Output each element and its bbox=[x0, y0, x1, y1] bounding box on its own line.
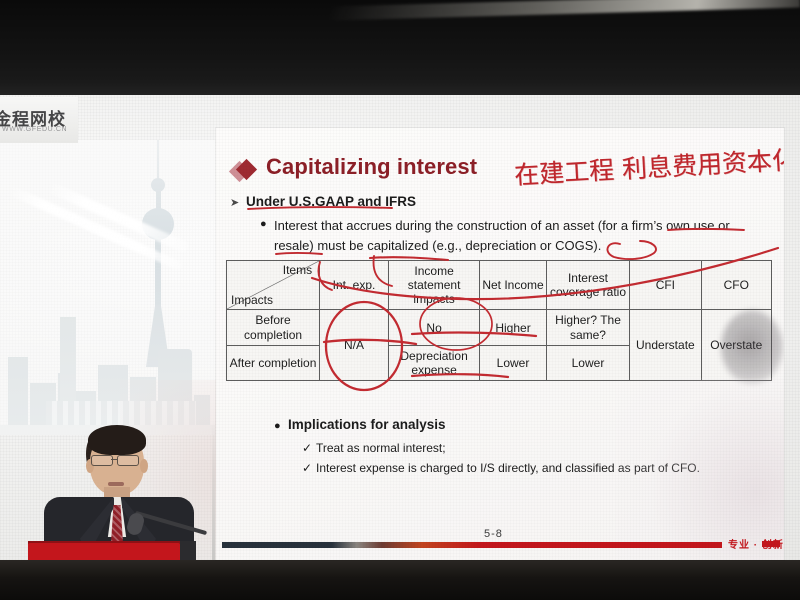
presenter-figure bbox=[28, 425, 218, 565]
presentation-slide: Capitalizing interest 在建工程 利息费用资本化 ➤ Und… bbox=[216, 128, 784, 560]
handwriting-ink-layer bbox=[216, 128, 784, 560]
eyeglasses-icon bbox=[91, 455, 113, 466]
ceiling-light-streak bbox=[330, 0, 800, 21]
eyeglasses-icon bbox=[117, 455, 139, 466]
footer-accent-bar bbox=[222, 542, 722, 548]
slide-page-number: 5-8 bbox=[484, 528, 503, 540]
shanghai-skyline-mural bbox=[0, 140, 215, 435]
lecture-room-photo: 金程网校 WWW.GFEDU.CN Capitalizing bbox=[0, 0, 800, 600]
footer-end-dash bbox=[762, 541, 780, 547]
gfedu-logo-watermark: 金程网校 WWW.GFEDU.CN bbox=[0, 97, 78, 143]
logo-url-label: WWW.GFEDU.CN bbox=[2, 126, 67, 133]
ceiling-dark-band bbox=[0, 0, 800, 97]
floor-dark-band bbox=[0, 560, 800, 600]
